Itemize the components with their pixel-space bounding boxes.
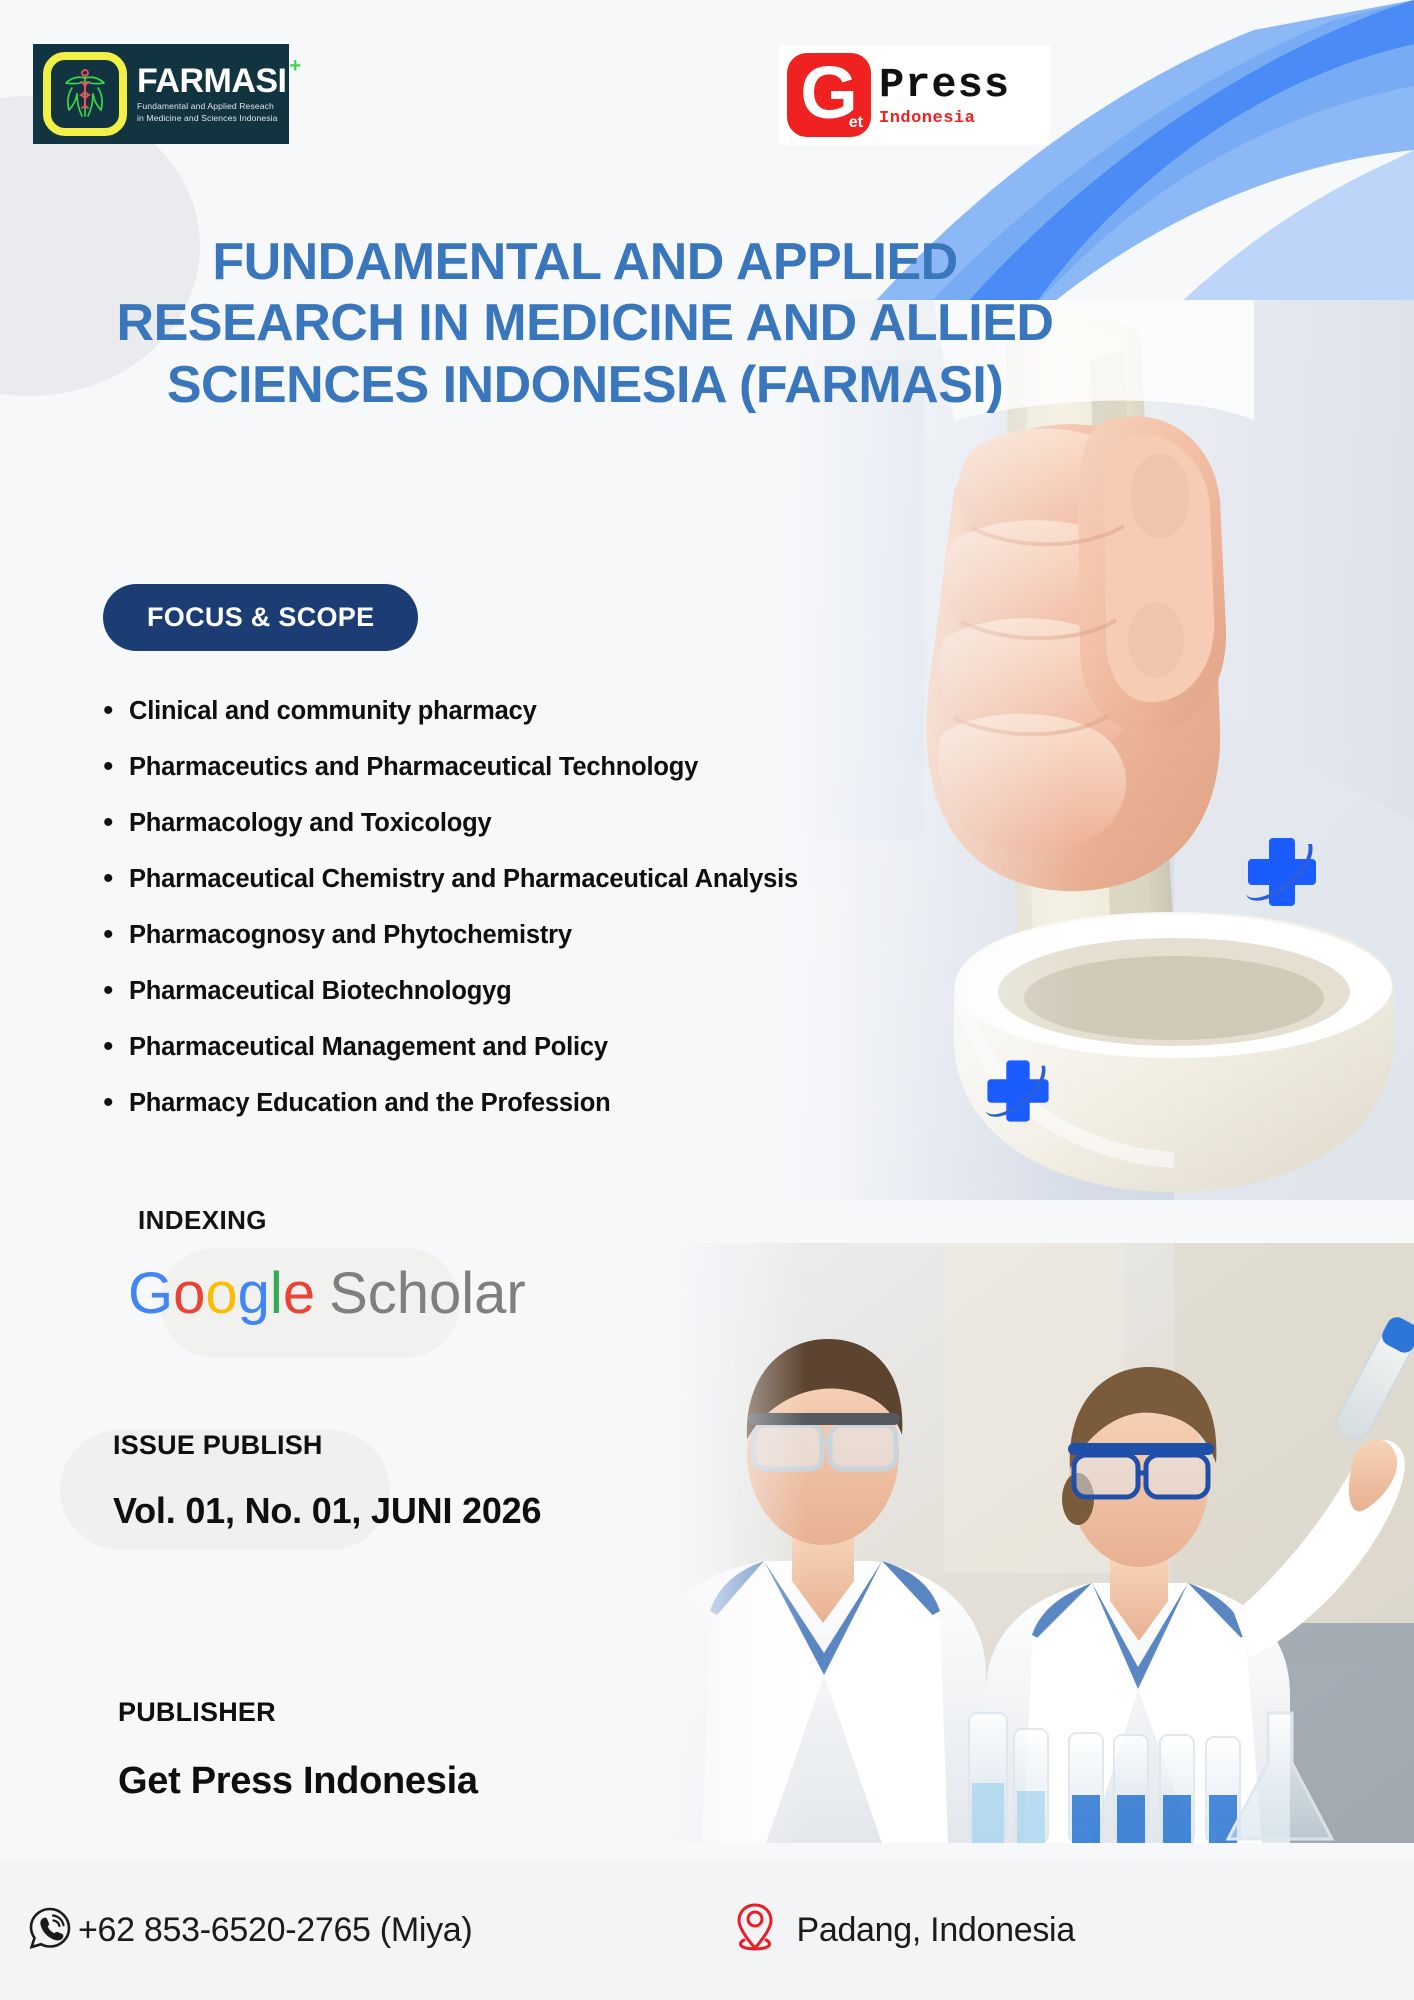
journal-poster: FARMASI+ Fundamental and Applied Reseach… — [0, 0, 1414, 2000]
title-line-3: SCIENCES INDONESIA (FARMASI) — [70, 355, 1100, 416]
medical-cross-orbit-icon — [982, 1055, 1054, 1127]
focus-scope-list: • Clinical and community pharmacy • Phar… — [103, 688, 993, 1136]
farmasi-tagline-line2: in Medicine and Sciences Indonesia — [137, 113, 287, 124]
badge-suffix-et: et — [849, 115, 863, 131]
publisher-value: Get Press Indonesia — [118, 1760, 478, 1803]
list-item: • Pharmaceutical Management and Policy — [103, 1024, 993, 1070]
contact-location: Padang, Indonesia — [734, 1902, 1074, 1959]
list-item-label: Pharmacology and Toxicology — [129, 800, 492, 846]
farmasi-wordmark: FARMASI+ — [137, 64, 287, 98]
google-letter-o2: o — [205, 1261, 237, 1326]
bullet-icon: • — [103, 744, 129, 790]
indexing-label: INDEXING — [138, 1205, 267, 1236]
bullet-icon: • — [103, 1080, 129, 1126]
bullet-icon: • — [103, 688, 129, 734]
list-item: • Pharmaceutical Chemistry and Pharmaceu… — [103, 856, 993, 902]
list-item-label: Pharmaceutical Management and Policy — [129, 1024, 608, 1070]
get-press-badge-icon: G et — [787, 53, 871, 137]
google-letter-g2: g — [238, 1261, 270, 1326]
bullet-icon: • — [103, 912, 129, 958]
contact-phone[interactable]: +62 853-6520-2765 (Miya) — [28, 1906, 472, 1955]
issue-publish-label: ISSUE PUBLISH — [113, 1430, 323, 1461]
bullet-icon: • — [103, 800, 129, 846]
photo-fade-overlay — [614, 1243, 1414, 1843]
whatsapp-icon — [28, 1906, 72, 1955]
list-item: • Pharmacology and Toxicology — [103, 800, 993, 846]
get-press-word: Press — [879, 64, 1010, 106]
location-name: Padang, Indonesia — [796, 1911, 1074, 1950]
two-scientists-in-lab-photo — [614, 1243, 1414, 1843]
list-item-label: Pharmacognosy and Phytochemistry — [129, 912, 572, 958]
farmasi-tagline-line1: Fundamental and Applied Reseach — [137, 101, 287, 112]
google-letter-e: e — [283, 1261, 315, 1326]
location-pin-icon — [734, 1902, 776, 1959]
page-title: FUNDAMENTAL AND APPLIED RESEARCH IN MEDI… — [70, 232, 1100, 416]
google-scholar-logo: GoogleScholar — [128, 1265, 526, 1323]
list-item: • Clinical and community pharmacy — [103, 688, 993, 734]
list-item: • Pharmaceutical Biotechnologyg — [103, 968, 993, 1014]
scholar-word: Scholar — [329, 1261, 526, 1326]
plus-icon: + — [289, 56, 300, 76]
caduceus-in-hands-icon — [43, 52, 127, 136]
bullet-icon: • — [103, 856, 129, 902]
get-press-indonesia-logo: G et Press Indonesia — [779, 45, 1050, 145]
google-letter-g: G — [128, 1261, 173, 1326]
publisher-label: PUBLISHER — [118, 1697, 276, 1728]
issue-publish-value: Vol. 01, No. 01, JUNI 2026 — [113, 1490, 541, 1532]
title-line-2: RESEARCH IN MEDICINE AND ALLIED — [70, 293, 1100, 354]
get-press-subtitle: Indonesia — [879, 110, 1010, 127]
title-line-1: FUNDAMENTAL AND APPLIED — [70, 232, 1100, 293]
bullet-icon: • — [103, 968, 129, 1014]
list-item-label: Pharmaceutics and Pharmaceutical Technol… — [129, 744, 698, 790]
list-item-label: Pharmaceutical Biotechnologyg — [129, 968, 511, 1014]
list-item-label: Pharmaceutical Chemistry and Pharmaceuti… — [129, 856, 919, 902]
google-letter-o1: o — [173, 1261, 205, 1326]
phone-number: +62 853-6520-2765 (Miya) — [78, 1911, 472, 1950]
bullet-icon: • — [103, 1024, 129, 1070]
farmasi-logo: FARMASI+ Fundamental and Applied Reseach… — [33, 44, 289, 144]
list-item: • Pharmacy Education and the Profession — [103, 1080, 993, 1126]
medical-cross-orbit-icon — [1242, 832, 1322, 912]
footer-bar: +62 853-6520-2765 (Miya) Padang, Indones… — [0, 1860, 1414, 2000]
list-item: • Pharmacognosy and Phytochemistry — [103, 912, 993, 958]
list-item: • Pharmaceutics and Pharmaceutical Techn… — [103, 744, 993, 790]
focus-and-scope-badge: FOCUS & SCOPE — [103, 584, 418, 651]
google-letter-l: l — [270, 1261, 283, 1326]
list-item-label: Clinical and community pharmacy — [129, 688, 537, 734]
list-item-label: Pharmacy Education and the Profession — [129, 1080, 610, 1126]
